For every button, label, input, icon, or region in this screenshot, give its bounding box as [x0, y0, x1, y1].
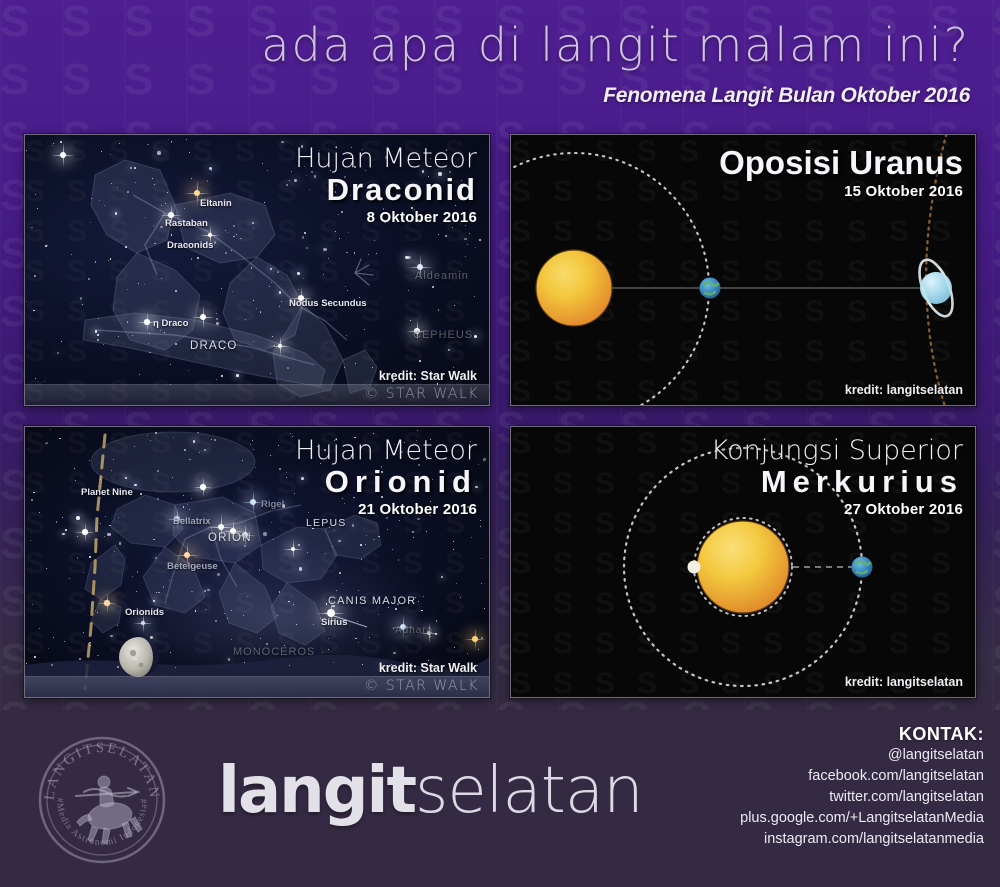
- panel-credit: kredit: Star Walk: [379, 369, 477, 383]
- panel-date: 15 Oktober 2016: [719, 181, 963, 202]
- panel-draconid[interactable]: SSSSSSSSSSSSSSSSSSSSSSSSSSSSSSSSSSSSSSSS…: [24, 134, 490, 406]
- panel-date: 8 Oktober 2016: [295, 207, 477, 228]
- sun-body: [536, 250, 612, 326]
- langitselatan-wordmark: langitselatan: [218, 754, 643, 828]
- panel-title-line1: Oposisi Uranus: [719, 145, 963, 181]
- star-label-eta-draco: η Draco: [153, 318, 188, 329]
- wordmark-bold: langit: [218, 754, 415, 828]
- constellation-label-draco: DRACO: [190, 340, 238, 352]
- poster-header: ada apa di langit malam ini? Fenomena La…: [0, 0, 1000, 128]
- panel-title-line2: Merkurius: [711, 465, 963, 499]
- constellation-label-cepheus: CEPHEUS: [413, 329, 473, 341]
- panel-orionid[interactable]: SSSSSSSSSSSSSSSSSSSSSSSSSSSSSSSSSSSSSSSS…: [24, 426, 490, 698]
- star-label-adhara: Adhara: [395, 625, 433, 636]
- star-label-rastaban: Rastaban: [165, 218, 208, 229]
- contact-twitter[interactable]: twitter.com/langitselatan: [740, 787, 984, 808]
- star-label-nodus-secundus: Nodus Secundus: [289, 298, 367, 309]
- starwalk-watermark-text: © STAR WALK: [364, 678, 479, 694]
- constellation-label-canis-major: CANIS MAJOR: [328, 595, 416, 607]
- contact-facebook[interactable]: facebook.com/langitselatan: [740, 766, 984, 787]
- panel-title-draconid: Hujan Meteor Draconid 8 Oktober 2016: [295, 145, 477, 228]
- star-label-aldeamin: Aldeamin: [415, 270, 469, 282]
- panel-title-line1: Konjungsi Superior: [711, 437, 963, 465]
- sun-body: [697, 521, 789, 613]
- starwalk-watermark-bar: © STAR WALK: [25, 676, 489, 697]
- contact-heading: KONTAK:: [740, 724, 984, 745]
- star-label-rigel: Rigel: [261, 499, 284, 510]
- panel-merkurius[interactable]: SSSSSSSSSSSSSSSSSSSSSSSSSSSSSSSSSSSSSSSS…: [510, 426, 976, 698]
- star-label-planet-nine: Planet Nine: [81, 487, 133, 498]
- contact-instagram[interactable]: instagram.com/langitselatanmedia: [740, 829, 984, 850]
- panel-title-line1: Hujan Meteor: [295, 437, 477, 465]
- star-label-orionids: Orionids: [125, 607, 164, 618]
- star-label-bellatrix: Bellatrix: [173, 516, 211, 527]
- constellation-label-monoceros: MONOCEROS: [233, 646, 315, 658]
- constellation-label-orion: ORION: [208, 532, 252, 544]
- moon-body: [119, 637, 159, 677]
- page-subtitle: Fenomena Langit Bulan Oktober 2016: [603, 84, 970, 108]
- mercury-body: [688, 561, 701, 574]
- panel-title-merkurius: Konjungsi Superior Merkurius 27 Oktober …: [711, 437, 963, 520]
- contact-handle[interactable]: @langitselatan: [740, 745, 984, 766]
- star-label-sirius: Sirius: [321, 617, 347, 628]
- panel-date: 27 Oktober 2016: [711, 499, 963, 520]
- starwalk-watermark-bar: © STAR WALK: [25, 384, 489, 405]
- langitselatan-seal-logo: LANGITSELATAN #Media Astronomi Indonesia…: [32, 730, 172, 870]
- panel-title-uranus: Oposisi Uranus 15 Oktober 2016: [719, 145, 963, 202]
- panel-credit: kredit: Star Walk: [379, 661, 477, 675]
- contact-googleplus[interactable]: plus.google.com/+LangitselatanMedia: [740, 808, 984, 829]
- panel-uranus[interactable]: SSSSSSSSSSSSSSSSSSSSSSSSSSSSSSSSSSSSSSSS…: [510, 134, 976, 406]
- panel-title-line2: Draconid: [295, 173, 477, 207]
- panel-date: 21 Oktober 2016: [295, 499, 477, 520]
- wordmark-thin: selatan: [415, 754, 643, 828]
- star-label-betelgeuse: Betelgeuse: [167, 561, 218, 572]
- star-label-eltanin: Eltanin: [200, 198, 232, 209]
- panel-title-orionid: Hujan Meteor Orionid 21 Oktober 2016: [295, 437, 477, 520]
- panel-title-line1: Hujan Meteor: [295, 145, 477, 173]
- panel-title-line2: Orionid: [295, 465, 477, 499]
- page-title: ada apa di langit malam ini?: [261, 22, 970, 68]
- panel-credit: kredit: langitselatan: [845, 383, 963, 397]
- star-label-draconids: Draconids: [167, 240, 213, 251]
- panel-credit: kredit: langitselatan: [845, 675, 963, 689]
- starwalk-watermark-text: © STAR WALK: [364, 386, 479, 402]
- contact-block: KONTAK: @langitselatan facebook.com/lang…: [740, 724, 984, 850]
- infographic-poster: SSSSSSSSSSSSSSSSSSSSSSSSSSSSSSSSSSSSSSSS…: [0, 0, 1000, 887]
